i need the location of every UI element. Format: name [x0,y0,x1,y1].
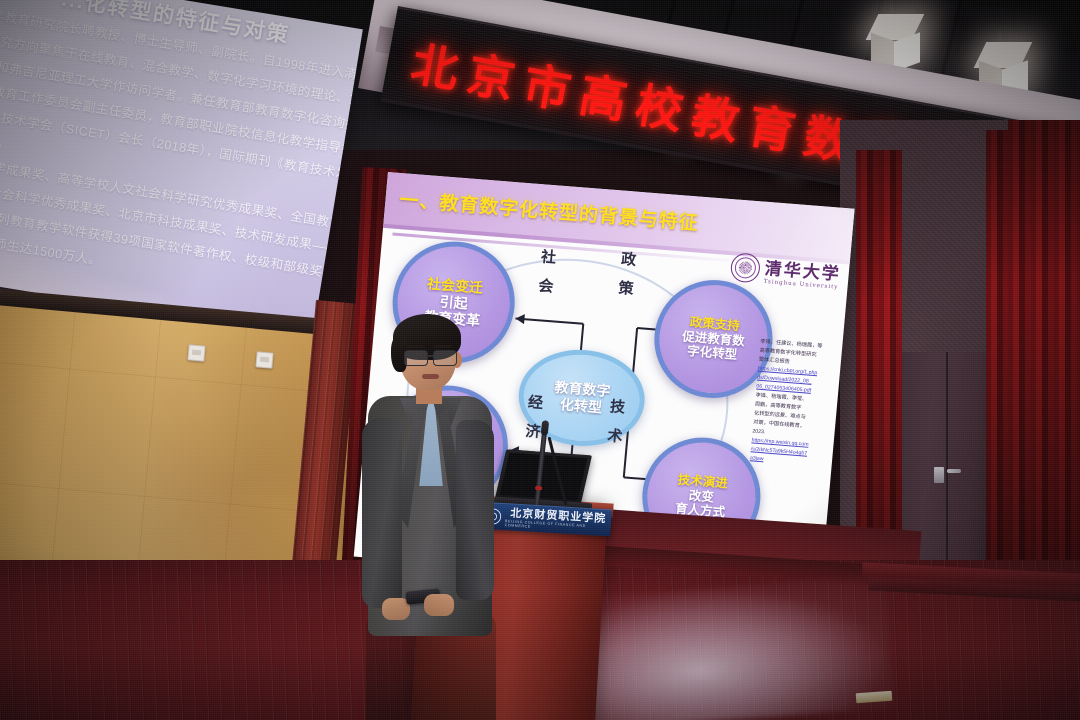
citation-link[interactable]: a3jaw [750,455,764,462]
stage-curtain [856,150,902,580]
floor-light-pool [556,577,894,720]
microphone-indicator [535,486,542,491]
light-switch-plate[interactable] [187,344,205,361]
speaker-glasses [404,350,458,365]
door-seam [946,352,948,567]
branch-label-social: 社 会 [533,248,558,299]
glasses-bridge [426,355,433,357]
slide-citation-block: 李锋、任建议、杨瑞霞，等 高等教育数字化转型研究 整体汇总报告 https://… [750,338,839,470]
speaker-eyebrow [434,345,452,348]
door-lock-plate[interactable] [934,467,944,483]
power-outlet-plate[interactable] [255,351,273,368]
conference-hall-photo: 北京市高校教育数字化工作交流会 ...化转型的特征与对策 清华大学教育研究院长聘… [0,0,1080,720]
curtain-shading [856,150,902,580]
branch-label-policy: 政 策 [614,250,639,301]
speaker-eyebrow [406,345,424,348]
door-handle[interactable] [947,469,961,473]
speaker-hand [424,594,454,616]
center-line-2: 化转型 [559,396,602,416]
branch-label-technology: 技 术 [602,398,627,449]
speaker-arm [456,420,494,600]
speaker-presenter [360,312,510,720]
speaker-mouth [422,374,439,379]
glasses-lens [433,350,457,366]
stage-curtain [1008,120,1080,590]
node-tail: 字化转型 [687,344,738,363]
curtain-shading [1008,120,1080,590]
arrow-head [515,313,525,324]
college-wordmark: 北京财贸职业学院 BEIJING COLLEGE OF FINANCE AND … [505,507,612,533]
glasses-lens [404,350,428,366]
speaker-arm [362,418,402,608]
